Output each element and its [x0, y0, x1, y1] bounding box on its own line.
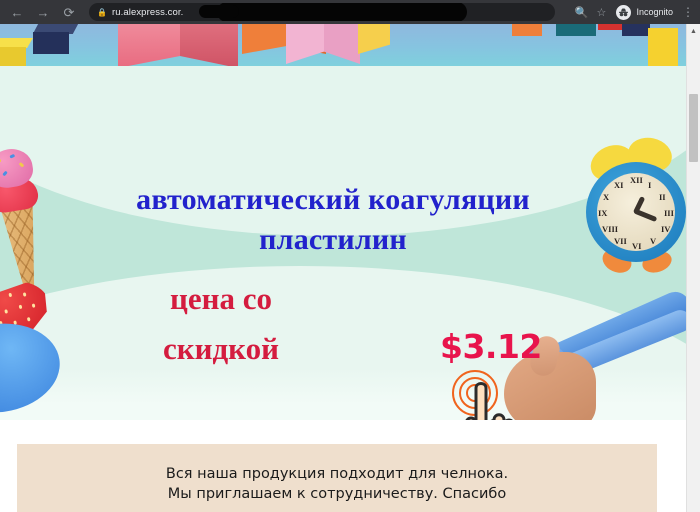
headline-line-2: пластилин — [58, 220, 608, 260]
clock-numeral: II — [659, 192, 666, 202]
incognito-label: Incognito — [636, 7, 673, 17]
address-bar-url: ru.alexpress.cor. — [112, 7, 183, 18]
clock-numeral: III — [664, 208, 674, 218]
caption-line-2: Мы приглашаем к сотрудничеству. Спасибо — [17, 484, 657, 504]
redaction-overlay — [217, 3, 467, 21]
headline-line-1: автоматический коагуляции — [58, 180, 608, 220]
clock-numeral: IV — [661, 224, 670, 234]
page-viewport: XII XI X IX VIII VII VI V IV III II I — [0, 24, 686, 512]
reload-icon[interactable]: ⟳ — [58, 1, 80, 23]
clock-numeral: VII — [614, 236, 627, 246]
price-label: $3.12 — [440, 328, 542, 366]
caption-text: Вся наша продукция подходит для челнока.… — [17, 464, 657, 504]
toolbar-actions: 🔍 ☆ Incognito ⋮ — [571, 2, 700, 22]
incognito-glyph — [618, 8, 629, 17]
sale-label: цена со скидкой — [96, 274, 346, 374]
clock-numeral: XII — [630, 175, 643, 185]
scrollbar-thumb[interactable] — [689, 94, 698, 162]
caption-line-1: Вся наша продукция подходит для челнока. — [17, 464, 657, 484]
browser-toolbar: ← → ⟳ 🔒 ru.alexpress.cor. 🔍 ☆ Incognito … — [0, 0, 700, 24]
page-scrollbar[interactable]: ▲ — [686, 24, 700, 512]
clock-numeral: XI — [614, 180, 623, 190]
pointing-hand-icon — [454, 380, 558, 420]
banner-headline: автоматический коагуляции пластилин — [58, 180, 608, 260]
clock-numeral: I — [648, 180, 651, 190]
back-arrow-icon[interactable]: ← — [6, 1, 28, 23]
search-icon[interactable]: 🔍 — [571, 2, 591, 22]
star-icon[interactable]: ☆ — [591, 2, 611, 22]
kebab-menu-icon[interactable]: ⋮ — [680, 5, 696, 19]
decorative-cube-strip — [0, 24, 686, 66]
clock-face: XII XI X IX VIII VII VI V IV III II I — [597, 173, 675, 251]
tap-gesture-icon — [448, 368, 558, 420]
incognito-indicator[interactable]: Incognito — [614, 3, 680, 21]
clock-numeral: V — [650, 236, 656, 246]
sale-line-2: скидкой — [96, 324, 346, 374]
scroll-up-arrow-icon[interactable]: ▲ — [687, 24, 700, 38]
promo-banner: XII XI X IX VIII VII VI V IV III II I — [0, 66, 686, 420]
address-bar[interactable]: 🔒 ru.alexpress.cor. — [89, 3, 555, 21]
forward-arrow-icon[interactable]: → — [32, 1, 54, 23]
sale-line-1: цена со — [96, 274, 346, 324]
incognito-icon — [616, 5, 631, 20]
clock-numeral: VI — [632, 241, 641, 251]
lock-icon: 🔒 — [97, 8, 107, 17]
